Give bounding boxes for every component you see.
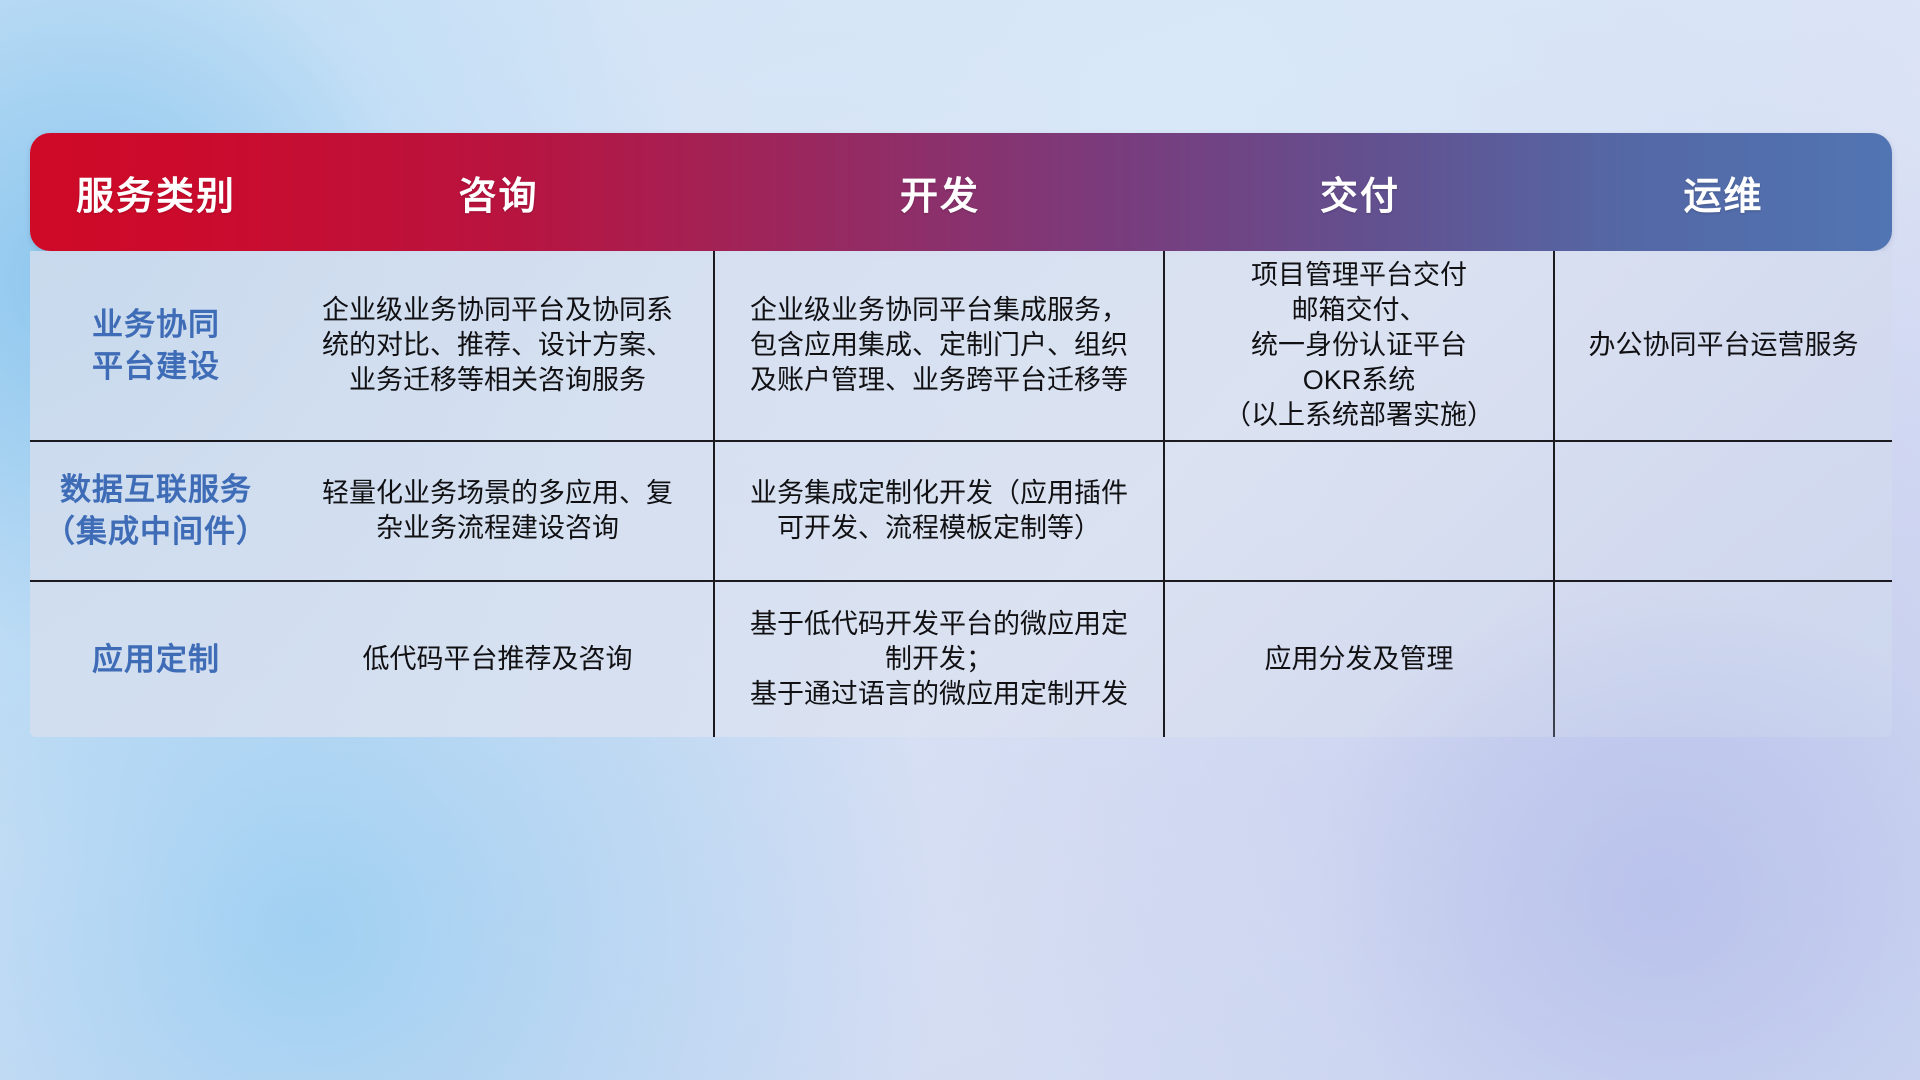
row-label-application-customization: 应用定制 — [30, 582, 282, 737]
cell-operations-row3 — [1555, 582, 1892, 737]
column-header-consulting: 咨询 — [282, 165, 715, 220]
column-header-development: 开发 — [715, 165, 1165, 220]
column-header-operations: 运维 — [1555, 165, 1892, 220]
slide-canvas: 服务类别 咨询 开发 交付 运维 业务协同 平台建设 企业级业务协同平台及协同系… — [0, 0, 1920, 1080]
table-row: 数据互联服务 （集成中间件） 轻量化业务场景的多应用、复 杂业务流程建设咨询 业… — [30, 440, 1892, 580]
cell-development-row2: 业务集成定制化开发（应用插件 可开发、流程模板定制等） — [715, 442, 1165, 580]
cell-operations-row2 — [1555, 442, 1892, 580]
table-row: 应用定制 低代码平台推荐及咨询 基于低代码开发平台的微应用定 制开发； 基于通过… — [30, 580, 1892, 737]
cell-consulting-row2: 轻量化业务场景的多应用、复 杂业务流程建设咨询 — [282, 442, 715, 580]
cell-delivery-row2 — [1165, 442, 1555, 580]
cell-development-row1: 企业级业务协同平台集成服务， 包含应用集成、定制门户、组织 及账户管理、业务跨平… — [715, 251, 1165, 440]
cell-operations-row1: 办公协同平台运营服务 — [1555, 251, 1892, 440]
row-label-data-interconnect: 数据互联服务 （集成中间件） — [30, 442, 282, 580]
column-header-service-category: 服务类别 — [30, 165, 282, 220]
service-matrix-table: 服务类别 咨询 开发 交付 运维 业务协同 平台建设 企业级业务协同平台及协同系… — [30, 133, 1892, 737]
cell-delivery-row3: 应用分发及管理 — [1165, 582, 1555, 737]
cell-delivery-row1: 项目管理平台交付 邮箱交付、 统一身份认证平台 OKR系统 （以上系统部署实施） — [1165, 251, 1555, 440]
cell-consulting-row1: 企业级业务协同平台及协同系 统的对比、推荐、设计方案、 业务迁移等相关咨询服务 — [282, 251, 715, 440]
row-label-business-collaboration: 业务协同 平台建设 — [30, 251, 282, 440]
table-row: 业务协同 平台建设 企业级业务协同平台及协同系 统的对比、推荐、设计方案、 业务… — [30, 251, 1892, 440]
cell-consulting-row3: 低代码平台推荐及咨询 — [282, 582, 715, 737]
table-header-row: 服务类别 咨询 开发 交付 运维 — [30, 133, 1892, 251]
table-body: 业务协同 平台建设 企业级业务协同平台及协同系 统的对比、推荐、设计方案、 业务… — [30, 251, 1892, 737]
column-header-delivery: 交付 — [1165, 165, 1555, 220]
cell-development-row3: 基于低代码开发平台的微应用定 制开发； 基于通过语言的微应用定制开发 — [715, 582, 1165, 737]
